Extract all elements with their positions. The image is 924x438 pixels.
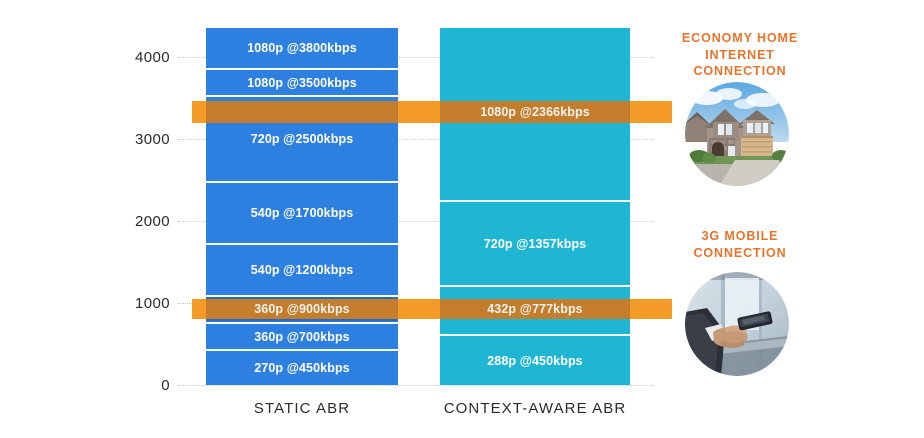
- selected-rung-label: 432p @777kbps: [487, 302, 582, 316]
- annotation-title-economy-home-internet: ECONOMY HOME INTERNET CONNECTION: [670, 30, 810, 80]
- y-tick-1000: 1000: [118, 296, 170, 311]
- throughput-band-highlight-static-low[interactable]: 360p @900kbps: [206, 297, 398, 321]
- bar-segment-label: 720p @2500kbps: [251, 132, 354, 146]
- bar-static-abr[interactable]: 1080p @3800kbps 1080p @3500kbps 720p @25…: [206, 28, 398, 385]
- bar-segment[interactable]: 288p @450kbps: [440, 336, 630, 385]
- bar-segment-label: 1080p @3800kbps: [247, 41, 357, 55]
- bar-segment[interactable]: 360p @700kbps: [206, 324, 398, 351]
- annotation-line-3: CONNECTION: [670, 63, 810, 80]
- smartphone-illustration: [685, 272, 789, 376]
- bar-segment-label: 540p @1200kbps: [251, 263, 354, 277]
- bar-segment[interactable]: 270p @450kbps: [206, 351, 398, 385]
- gridline-0: [178, 385, 654, 386]
- bar-segment[interactable]: 1080p @3500kbps: [206, 70, 398, 97]
- annotation-title-3g-mobile: 3G MOBILE CONNECTION: [670, 228, 810, 261]
- bar-segment-label: 720p @1357kbps: [484, 237, 587, 251]
- throughput-band-highlight-static-high[interactable]: 1080p @3500kbps: [206, 101, 398, 123]
- bar-segment[interactable]: 1080p @3800kbps: [206, 28, 398, 70]
- annotation-line-2: CONNECTION: [670, 245, 810, 262]
- annotation-line-2: INTERNET: [670, 47, 810, 64]
- y-tick-3000: 3000: [118, 132, 170, 147]
- annotation-line-1: 3G MOBILE: [670, 228, 810, 245]
- bar-segment-label: 270p @450kbps: [254, 361, 349, 375]
- bar-segment-label: 288p @450kbps: [487, 354, 582, 368]
- bar-segment[interactable]: 720p @1357kbps: [440, 202, 630, 287]
- suburban-house-photo: [685, 82, 789, 186]
- bar-segment-label: 1080p @3500kbps: [247, 76, 357, 90]
- annotation-line-1: ECONOMY HOME: [670, 30, 810, 47]
- hand-holding-smartphone-photo: [685, 272, 789, 376]
- bar-segment[interactable]: 540p @1200kbps: [206, 245, 398, 297]
- x-axis-label-context-aware-abr: CONTEXT-AWARE ABR: [420, 400, 650, 417]
- bar-segment[interactable]: 540p @1700kbps: [206, 183, 398, 245]
- bar-context-aware-abr[interactable]: 1080p @2366kbps 720p @1357kbps 432p @777…: [440, 28, 630, 385]
- selected-rung-label: 1080p @2366kbps: [480, 105, 590, 119]
- selected-rung-label: 360p @900kbps: [254, 302, 349, 316]
- bar-segment-label: 360p @700kbps: [254, 330, 349, 344]
- x-axis-label-static-abr: STATIC ABR: [206, 400, 398, 417]
- chart-canvas: 4000 3000 2000 1000 0 1080p @3800kbps 10…: [0, 0, 924, 438]
- y-tick-4000: 4000: [118, 50, 170, 65]
- y-tick-2000: 2000: [118, 214, 170, 229]
- throughput-band-highlight-context-low[interactable]: 432p @777kbps: [440, 299, 630, 319]
- y-tick-0: 0: [118, 378, 170, 393]
- bar-segment-label: 540p @1700kbps: [251, 206, 354, 220]
- throughput-band-highlight-context-high[interactable]: 1080p @2366kbps: [440, 101, 630, 123]
- house-illustration: [685, 82, 789, 186]
